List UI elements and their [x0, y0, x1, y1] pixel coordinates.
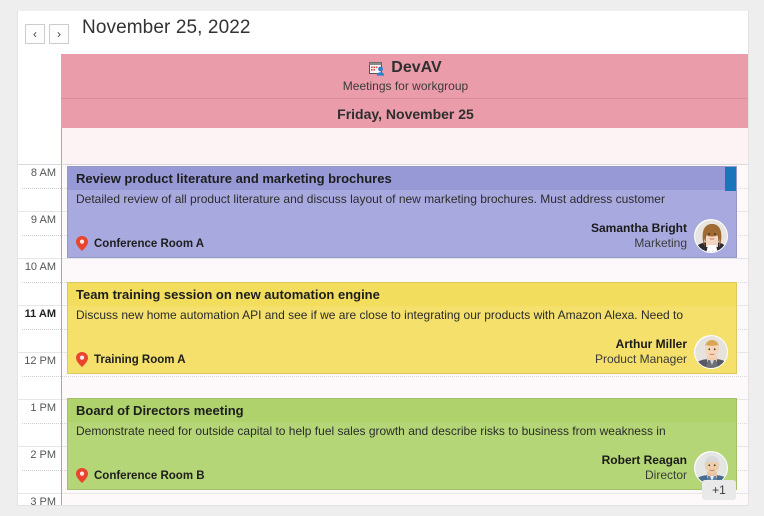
appointment-location-label: Conference Room B: [94, 470, 205, 482]
time-grid: 8 AM9 AM10 AM11 AM12 PM1 PM2 PM3 PM Revi…: [18, 165, 749, 506]
location-pin-icon: [76, 468, 88, 483]
time-ruler-cell: 8 AM: [18, 165, 61, 212]
appointment-title: Review product literature and marketing …: [68, 167, 736, 190]
overflow-appointments-badge[interactable]: +1: [702, 480, 736, 500]
half-hour-divider: [22, 235, 61, 236]
half-hour-divider: [22, 376, 61, 377]
group-subtitle: Meetings for workgroup: [343, 79, 468, 93]
owner-name: Samantha Bright: [591, 221, 687, 236]
appointment-location: Training Room A: [76, 352, 186, 367]
time-ruler-cell: 2 PM: [18, 447, 61, 494]
hour-label: 12 PM: [24, 355, 56, 367]
appointment-description: Demonstrate need for outside capital to …: [68, 422, 736, 438]
avatar: [694, 219, 728, 253]
group-title: DevAV: [391, 59, 441, 77]
hour-label: 10 AM: [25, 261, 56, 273]
appointment-location: Conference Room B: [76, 468, 205, 483]
calendar-headers: DevAV Meetings for workgroup Friday, Nov…: [61, 54, 749, 128]
owner-role: Director: [602, 468, 687, 483]
appointment[interactable]: Team training session on new automation …: [67, 282, 737, 374]
appointment-resize-handle[interactable]: [725, 167, 736, 191]
time-ruler: 8 AM9 AM10 AM11 AM12 PM1 PM2 PM3 PM: [18, 165, 61, 506]
next-day-button[interactable]: ›: [49, 24, 69, 44]
appointment-owner: Arthur MillerProduct Manager: [595, 335, 728, 369]
avatar: [694, 335, 728, 369]
location-pin-icon: [76, 236, 88, 251]
day-header[interactable]: Friday, November 25: [61, 99, 749, 128]
appointment-title: Team training session on new automation …: [68, 283, 736, 306]
time-ruler-cell: 1 PM: [18, 400, 61, 447]
time-ruler-cell: 12 PM: [18, 353, 61, 400]
hour-label: 1 PM: [30, 402, 56, 414]
appointment[interactable]: Board of Directors meetingDemonstrate ne…: [67, 398, 737, 490]
half-hour-divider: [22, 188, 61, 189]
location-pin-icon: [76, 352, 88, 367]
half-hour-divider: [22, 329, 61, 330]
appointment-location-label: Conference Room A: [94, 238, 204, 250]
all-day-row[interactable]: [61, 128, 749, 165]
all-day-gutter: [18, 128, 61, 165]
previous-day-button[interactable]: ‹: [25, 24, 45, 44]
time-slot[interactable]: [62, 494, 749, 506]
resource-group-header[interactable]: DevAV Meetings for workgroup: [61, 54, 749, 99]
owner-role: Product Manager: [595, 352, 687, 367]
current-date-label: November 25, 2022: [82, 17, 251, 39]
appointment-location-label: Training Room A: [94, 354, 186, 366]
hour-label: 8 AM: [31, 167, 56, 179]
appointment-location: Conference Room A: [76, 236, 204, 251]
hour-label: 2 PM: [30, 449, 56, 461]
time-ruler-cell: 9 AM: [18, 212, 61, 259]
appointment-description: Detailed review of all product literatur…: [68, 190, 736, 206]
chevron-right-icon: ›: [57, 27, 61, 41]
owner-role: Marketing: [591, 236, 687, 251]
time-ruler-cell: 3 PM: [18, 494, 61, 506]
scheduler-toolbar: ‹ › November 25, 2022: [18, 11, 749, 54]
owner-name: Robert Reagan: [602, 453, 687, 468]
half-hour-divider: [62, 376, 749, 377]
hour-label: 3 PM: [30, 496, 56, 506]
half-hour-divider: [22, 470, 61, 471]
time-ruler-cell: 10 AM: [18, 259, 61, 306]
half-hour-divider: [22, 282, 61, 283]
appointment[interactable]: Review product literature and marketing …: [67, 166, 737, 258]
chevron-left-icon: ‹: [33, 27, 37, 41]
calendar-person-icon: [369, 61, 385, 76]
appointment-owner: Samantha BrightMarketing: [591, 219, 728, 253]
hour-label: 9 AM: [31, 214, 56, 226]
half-hour-divider: [22, 423, 61, 424]
appointment-description: Discuss new home automation API and see …: [68, 306, 736, 322]
owner-name: Arthur Miller: [595, 337, 687, 352]
day-column[interactable]: Review product literature and marketing …: [61, 165, 749, 506]
hour-label: 11 AM: [25, 308, 56, 320]
time-ruler-cell: 11 AM: [18, 306, 61, 353]
appointment-title: Board of Directors meeting: [68, 399, 736, 422]
scheduler-view: ‹ › November 25, 2022: [17, 11, 749, 506]
group-title-row: DevAV: [369, 59, 441, 77]
